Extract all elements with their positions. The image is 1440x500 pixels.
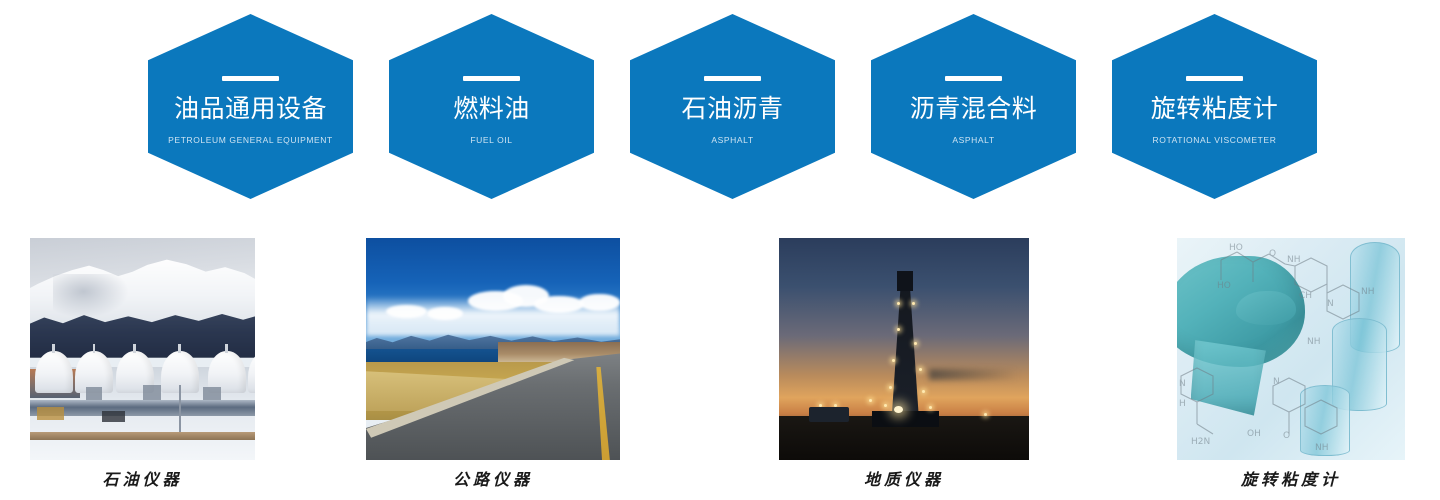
hex-title-cn: 燃料油 <box>453 96 530 124</box>
image-snowy-mountains-oil-tanks <box>30 238 255 460</box>
gallery-photo-viscometer[interactable]: HO NH HO NH CH N NH N H H2N N O NH O OH <box>1177 238 1405 460</box>
hex-title-cn: 石油沥青 <box>681 96 783 124</box>
hex-title-en: ASPHALT <box>711 135 753 145</box>
image-lab-glove-beaker-chemistry: HO NH HO NH CH N NH N H H2N N O NH O OH <box>1177 238 1405 460</box>
svg-text:O: O <box>1269 249 1276 259</box>
image-highway-lake-mountains <box>366 238 620 460</box>
hex-title-cn: 油品通用设备 <box>174 96 327 124</box>
svg-text:H2N: H2N <box>1191 437 1210 447</box>
gallery-caption-highway[interactable]: 公路仪器 <box>366 466 620 490</box>
divider-dash-icon <box>222 76 279 81</box>
hex-category-4[interactable]: 沥青混合料 ASPHALT <box>871 14 1076 199</box>
hex-category-1[interactable]: 油品通用设备 PETROLEUM GENERAL EQUIPMENT <box>148 14 353 199</box>
hex-title-en: ROTATIONAL VISCOMETER <box>1153 135 1277 145</box>
divider-dash-icon <box>945 76 1002 81</box>
svg-text:NH: NH <box>1307 337 1321 347</box>
image-drilling-rig-dusk <box>779 238 1029 460</box>
divider-dash-icon <box>1186 76 1243 81</box>
gallery-photo-petroleum[interactable] <box>30 238 255 460</box>
chemical-structure-overlay-icon: HO NH HO NH CH N NH N H H2N N O NH O OH <box>1177 238 1405 460</box>
divider-dash-icon <box>463 76 520 81</box>
gallery-caption-petroleum[interactable]: 石油仪器 <box>30 466 255 490</box>
gallery-photo-geology[interactable] <box>779 238 1029 460</box>
gallery-caption-viscometer[interactable]: 旋转粘度计 <box>1177 466 1405 490</box>
svg-text:NH: NH <box>1315 443 1329 453</box>
gallery-photo-highway[interactable] <box>366 238 620 460</box>
hex-category-5[interactable]: 旋转粘度计 ROTATIONAL VISCOMETER <box>1112 14 1317 199</box>
svg-text:OH: OH <box>1247 429 1261 439</box>
svg-text:N: N <box>1273 377 1280 387</box>
svg-text:HO: HO <box>1217 281 1231 291</box>
hex-title-cn: 沥青混合料 <box>910 96 1038 124</box>
hex-category-2[interactable]: 燃料油 FUEL OIL <box>389 14 594 199</box>
page-root: 油品通用设备 PETROLEUM GENERAL EQUIPMENT 燃料油 F… <box>0 0 1440 500</box>
hexagon-category-nav: 油品通用设备 PETROLEUM GENERAL EQUIPMENT 燃料油 F… <box>0 0 1440 210</box>
svg-text:HO: HO <box>1229 243 1243 253</box>
hex-title-cn: 旋转粘度计 <box>1151 96 1279 124</box>
svg-text:H: H <box>1179 399 1186 409</box>
svg-text:CH: CH <box>1299 291 1312 301</box>
hex-title-en: PETROLEUM GENERAL EQUIPMENT <box>168 135 333 145</box>
svg-text:N: N <box>1327 299 1334 309</box>
svg-text:NH: NH <box>1287 255 1301 265</box>
svg-text:N: N <box>1179 379 1186 389</box>
svg-text:O: O <box>1283 431 1290 441</box>
svg-text:NH: NH <box>1361 287 1375 297</box>
divider-dash-icon <box>704 76 761 81</box>
hex-category-3[interactable]: 石油沥青 ASPHALT <box>630 14 835 199</box>
gallery-caption-geology[interactable]: 地质仪器 <box>779 466 1029 490</box>
hex-title-en: ASPHALT <box>952 135 994 145</box>
hex-title-en: FUEL OIL <box>470 135 512 145</box>
